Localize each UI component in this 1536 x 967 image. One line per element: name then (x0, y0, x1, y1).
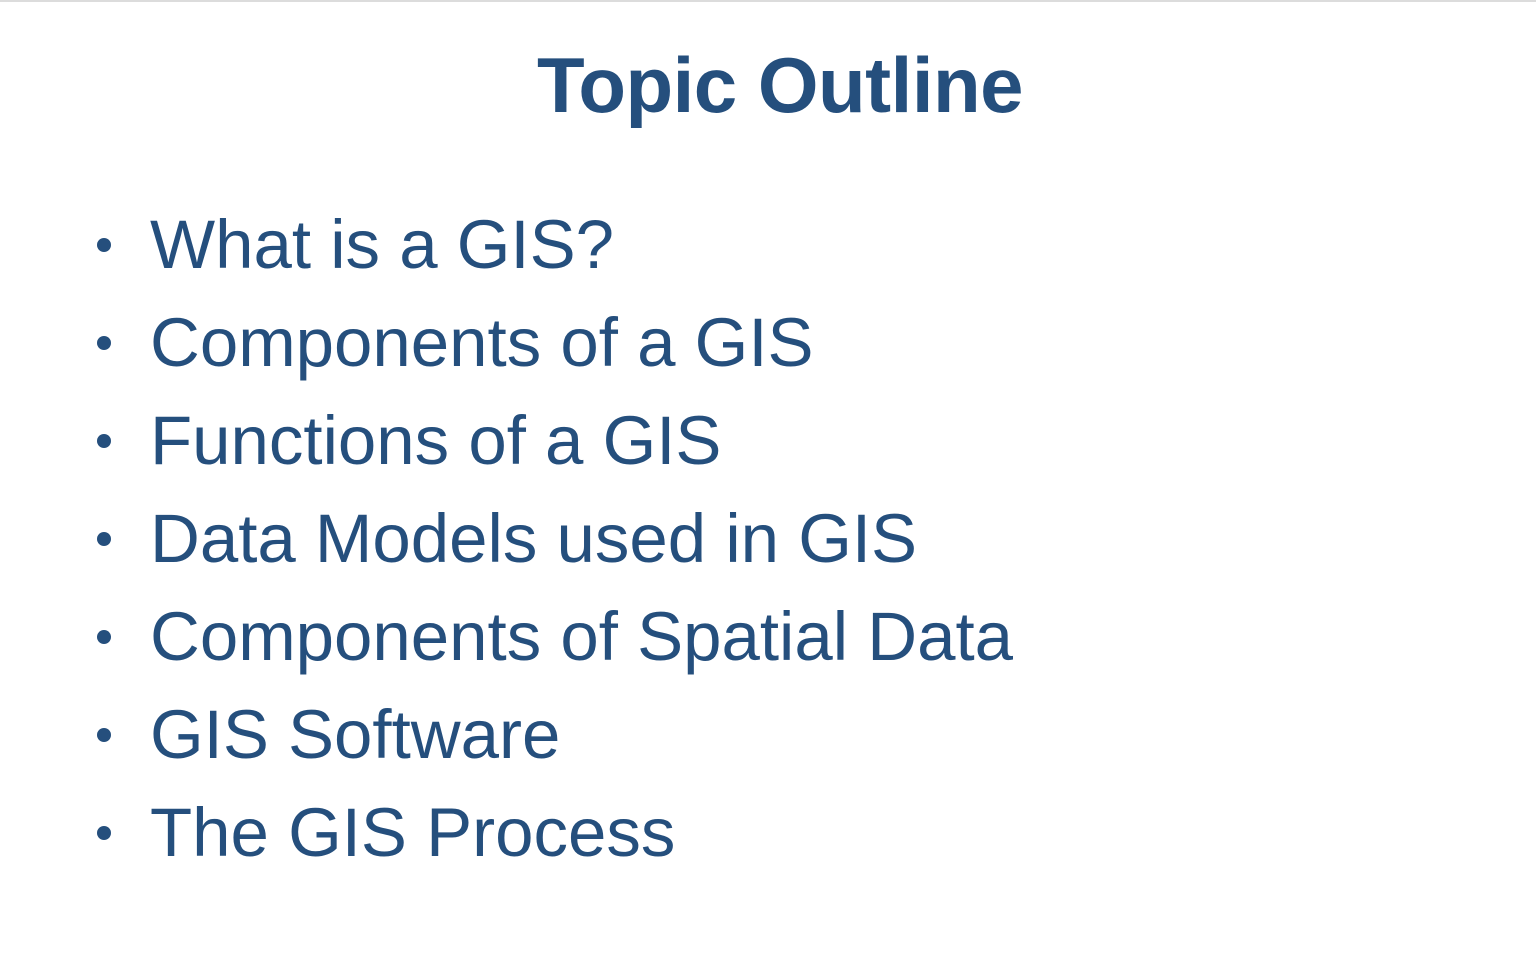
list-item: The GIS Process (86, 784, 1466, 882)
list-item: Components of a GIS (86, 294, 1466, 392)
list-item-label: Components of a GIS (150, 294, 814, 392)
list-item: Data Models used in GIS (86, 490, 1466, 588)
list-item-label: GIS Software (150, 686, 560, 784)
bullet-dot-icon (97, 532, 111, 546)
page-title: Topic Outline (0, 46, 1536, 124)
list-item-label: The GIS Process (150, 784, 675, 882)
list-item-label: Components of Spatial Data (150, 588, 1013, 686)
list-item: GIS Software (86, 686, 1466, 784)
bullet-dot-icon (97, 336, 111, 350)
bullet-dot-icon (97, 826, 111, 840)
list-item: Components of Spatial Data (86, 588, 1466, 686)
list-item: Functions of a GIS (86, 392, 1466, 490)
topic-outline-list: What is a GIS? Components of a GIS Funct… (86, 196, 1466, 882)
bullet-dot-icon (97, 434, 111, 448)
slide-top-divider (0, 0, 1536, 2)
list-item: What is a GIS? (86, 196, 1466, 294)
presentation-slide: Topic Outline What is a GIS? Components … (0, 0, 1536, 967)
list-item-label: What is a GIS? (150, 196, 614, 294)
bullet-dot-icon (97, 238, 111, 252)
bullet-dot-icon (97, 630, 111, 644)
list-item-label: Functions of a GIS (150, 392, 721, 490)
bullet-dot-icon (97, 728, 111, 742)
list-item-label: Data Models used in GIS (150, 490, 917, 588)
